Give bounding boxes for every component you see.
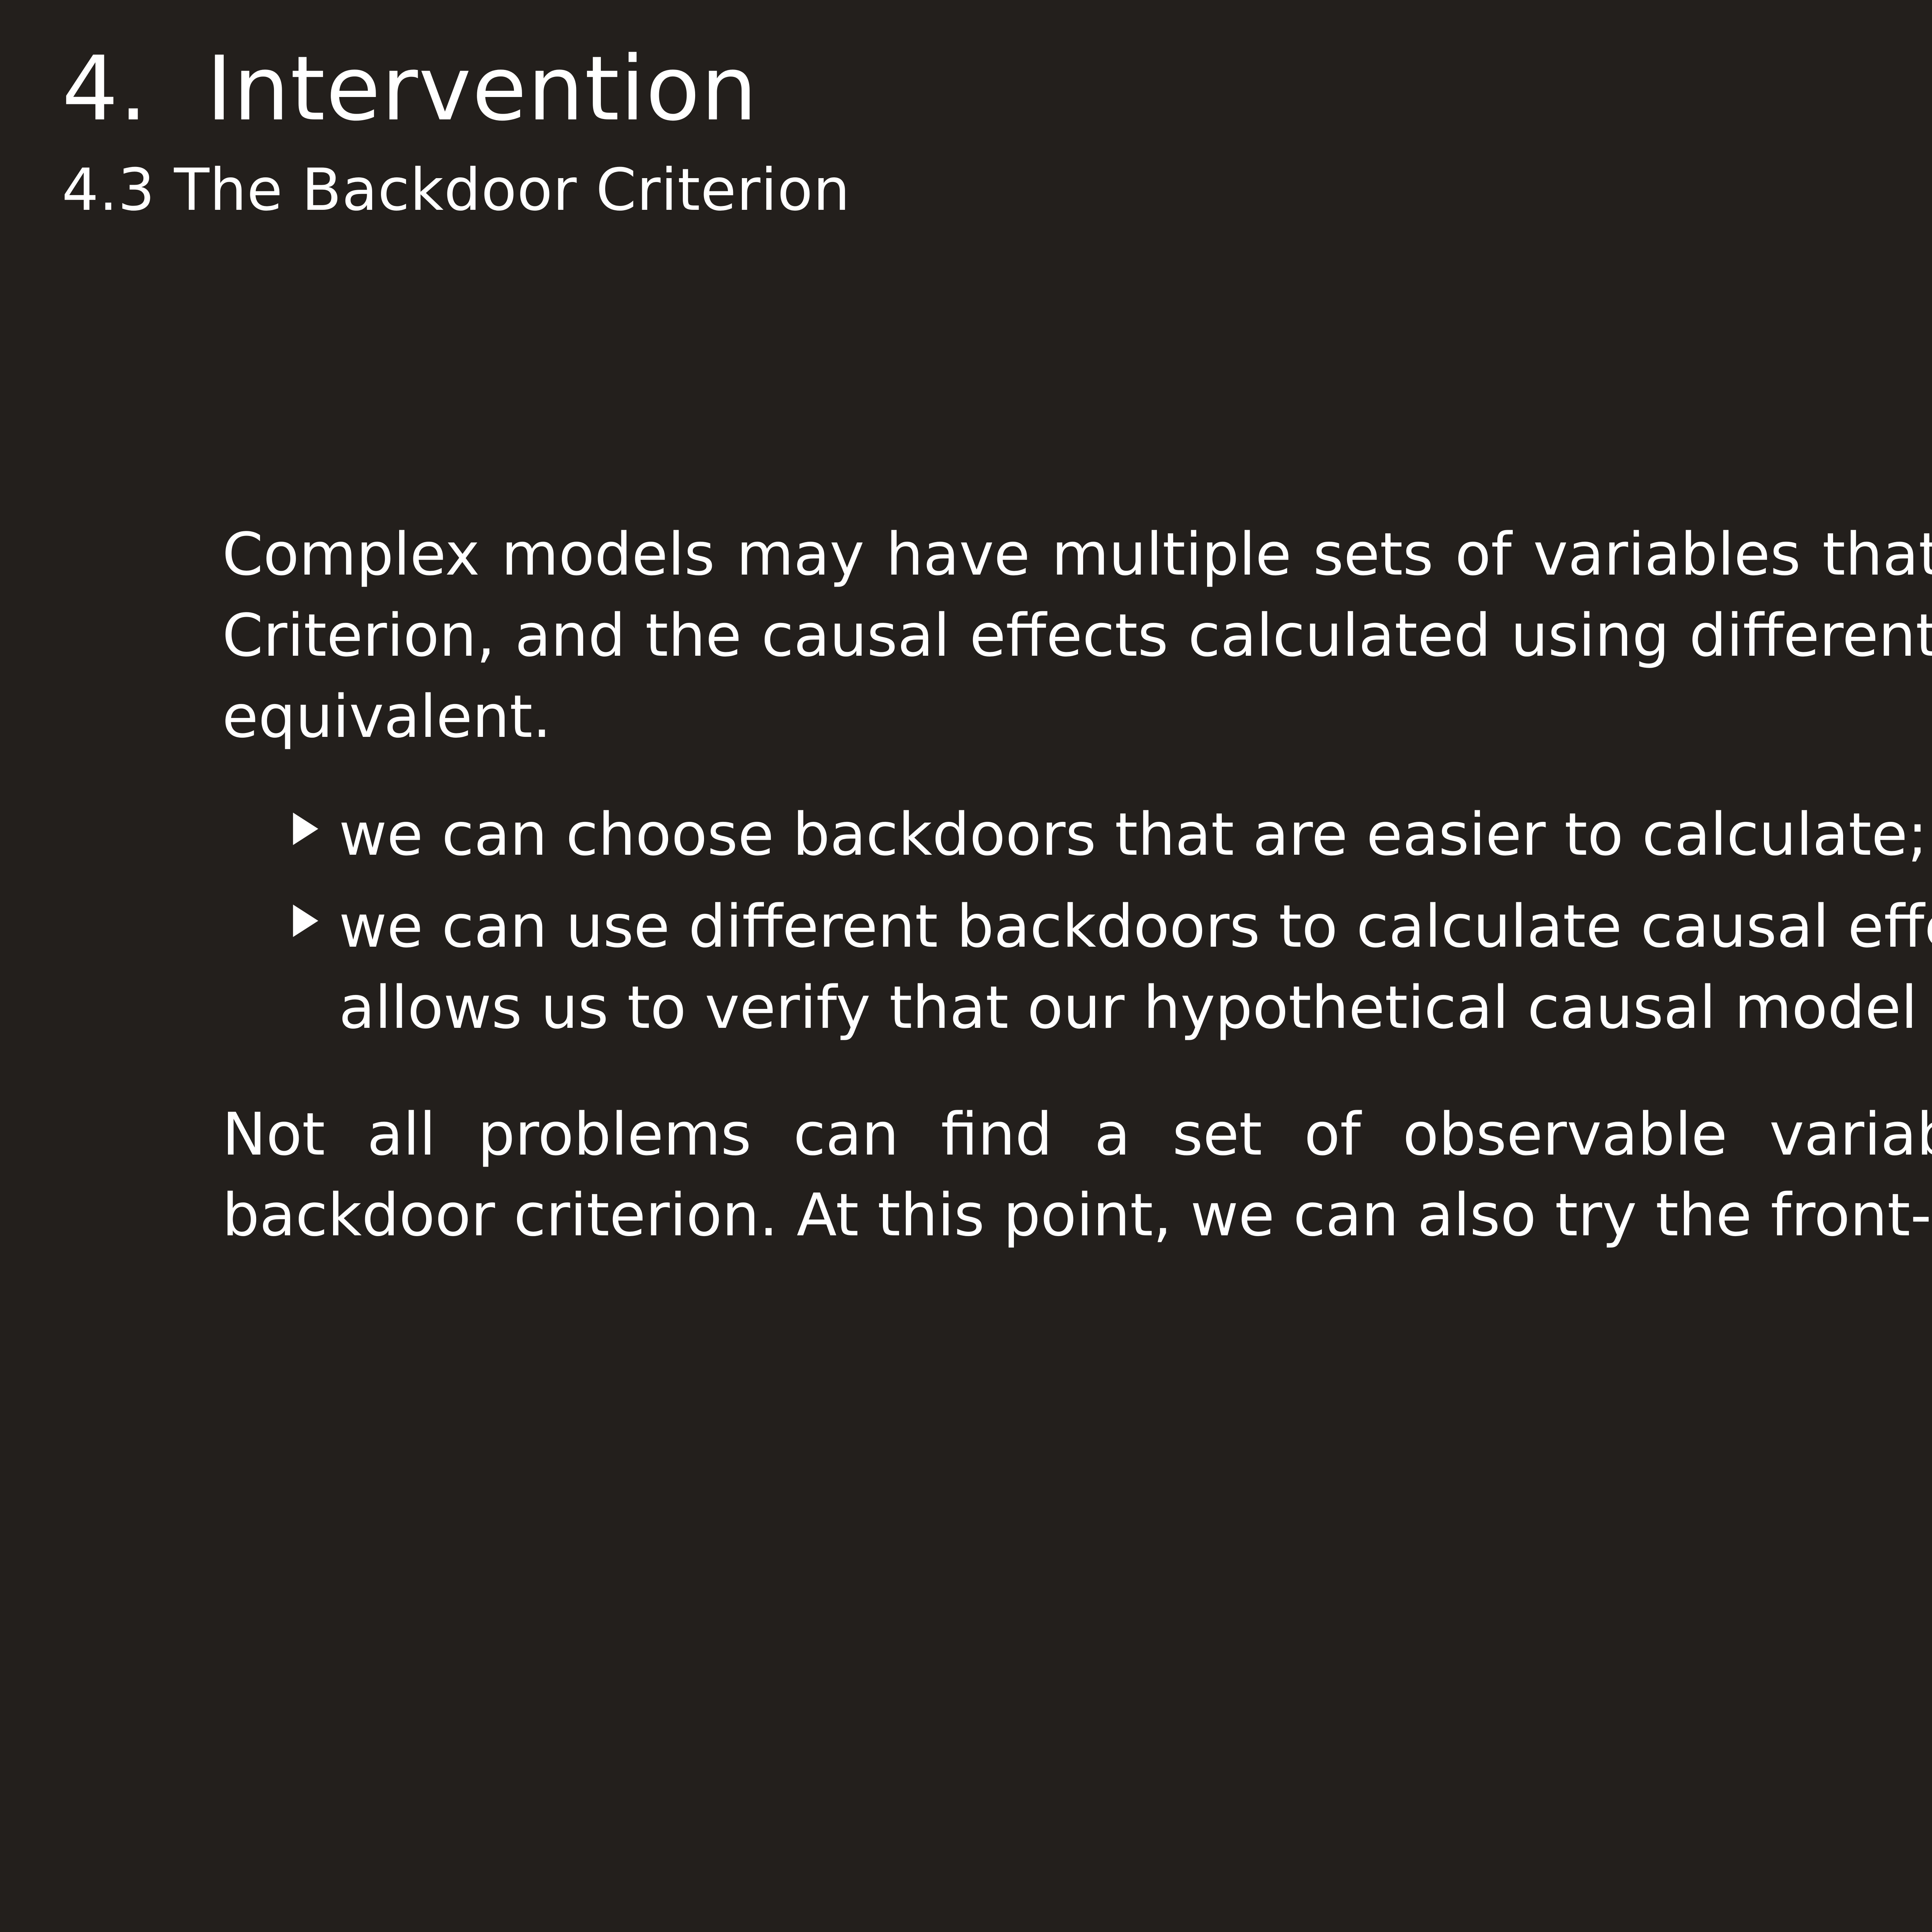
list-item: we can use different backdoors to calcul… bbox=[222, 886, 1932, 1048]
subsection-title: 4.3 The Backdoor Criterion bbox=[62, 160, 1932, 221]
closing-paragraph: Not all problems can find a set of obser… bbox=[222, 1094, 1932, 1256]
list-item: we can choose backdoors that are easier … bbox=[222, 794, 1932, 875]
list-item-label: we can use different backdoors to calcul… bbox=[339, 886, 1932, 1048]
triangle-bullet-icon bbox=[284, 899, 339, 942]
intro-paragraph: Complex models may have multiple sets of… bbox=[222, 514, 1932, 757]
bullet-list: we can choose backdoors that are easier … bbox=[222, 794, 1932, 1048]
triangle-bullet-icon bbox=[284, 807, 339, 850]
slide-body: Complex models may have multiple sets of… bbox=[222, 514, 1932, 1256]
slide-header: 4. Intervention 4.3 The Backdoor Criteri… bbox=[62, 43, 1932, 221]
list-item-label: we can choose backdoors that are easier … bbox=[339, 794, 1932, 875]
section-title: 4. Intervention bbox=[62, 43, 1932, 136]
